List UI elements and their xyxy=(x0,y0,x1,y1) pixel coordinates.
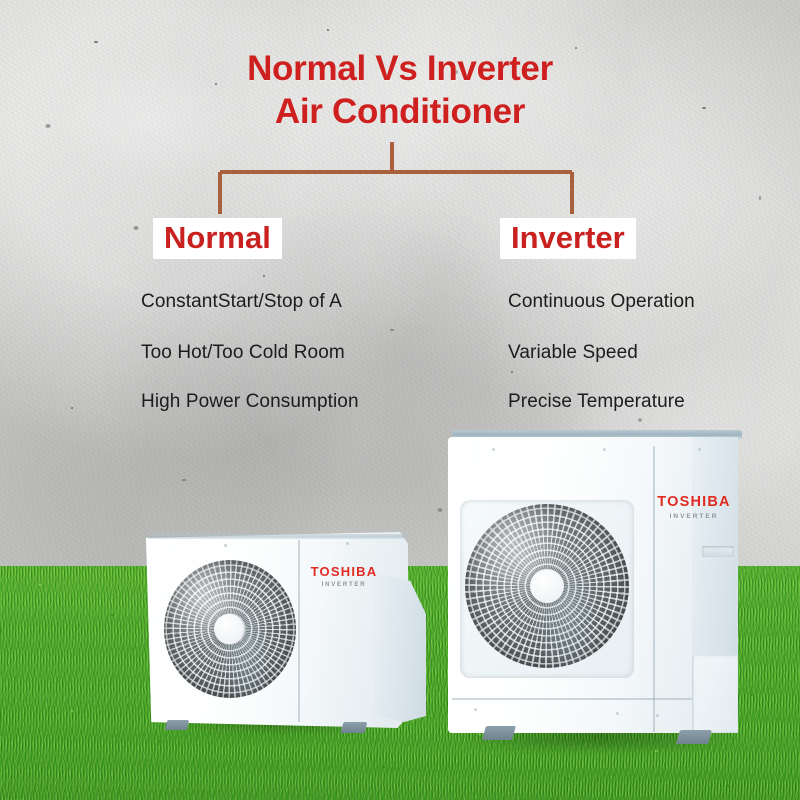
infographic-canvas: Normal Vs Inverter Air Conditioner Norma… xyxy=(0,0,800,800)
small-unit-screw-1 xyxy=(224,544,227,547)
small-unit-brand-subtitle: INVERTER xyxy=(301,582,387,588)
small-unit-top-lip xyxy=(148,534,406,539)
small-unit-fan-hub xyxy=(214,614,244,644)
large-unit-screw-4 xyxy=(474,708,477,711)
small-unit-brand-logo: TOSHIBA xyxy=(301,565,387,578)
small-unit-seam-vertical xyxy=(298,540,300,722)
large-unit-valve-cover xyxy=(692,655,738,733)
large-unit-screw-1 xyxy=(492,448,495,451)
page-title-line-2: Air Conditioner xyxy=(0,91,800,134)
large-unit-screw-3 xyxy=(698,448,701,451)
large-unit-foot-right xyxy=(676,730,712,744)
page-title-line-1: Normal Vs Inverter xyxy=(247,49,553,88)
small-unit-foot-left xyxy=(165,720,189,730)
large-ac-unit: TOSHIBA INVERTER xyxy=(448,430,748,750)
small-ac-unit: TOSHIBA INVERTER xyxy=(146,532,426,737)
large-unit-screw-2 xyxy=(603,448,606,451)
column-header-normal: Normal xyxy=(153,218,282,259)
small-unit-foot-right xyxy=(341,722,368,733)
large-unit-screw-5 xyxy=(616,712,619,715)
large-unit-side-handle xyxy=(702,546,734,557)
inverter-feature-2: Variable Speed xyxy=(508,342,638,365)
small-unit-screw-2 xyxy=(346,542,349,545)
large-unit-brand-subtitle: INVERTER xyxy=(648,514,740,521)
normal-feature-2: Too Hot/Too Cold Room xyxy=(141,342,345,365)
normal-feature-1: ConstantStart/Stop of A xyxy=(141,291,342,314)
normal-feature-3: High Power Consumption xyxy=(141,391,359,414)
inverter-feature-1: Continuous Operation xyxy=(508,291,695,314)
small-unit-right-step xyxy=(374,572,426,722)
inverter-feature-3: Precise Temperature xyxy=(508,391,685,414)
page-title: Normal Vs Inverter Air Conditioner xyxy=(0,48,800,133)
large-unit-seam-vertical xyxy=(653,446,655,732)
large-unit-foot-left xyxy=(482,726,516,740)
column-header-inverter: Inverter xyxy=(500,218,636,259)
large-unit-brand-logo: TOSHIBA xyxy=(648,495,740,510)
large-unit-screw-6 xyxy=(656,714,659,717)
large-unit-fan-hub xyxy=(530,569,564,603)
